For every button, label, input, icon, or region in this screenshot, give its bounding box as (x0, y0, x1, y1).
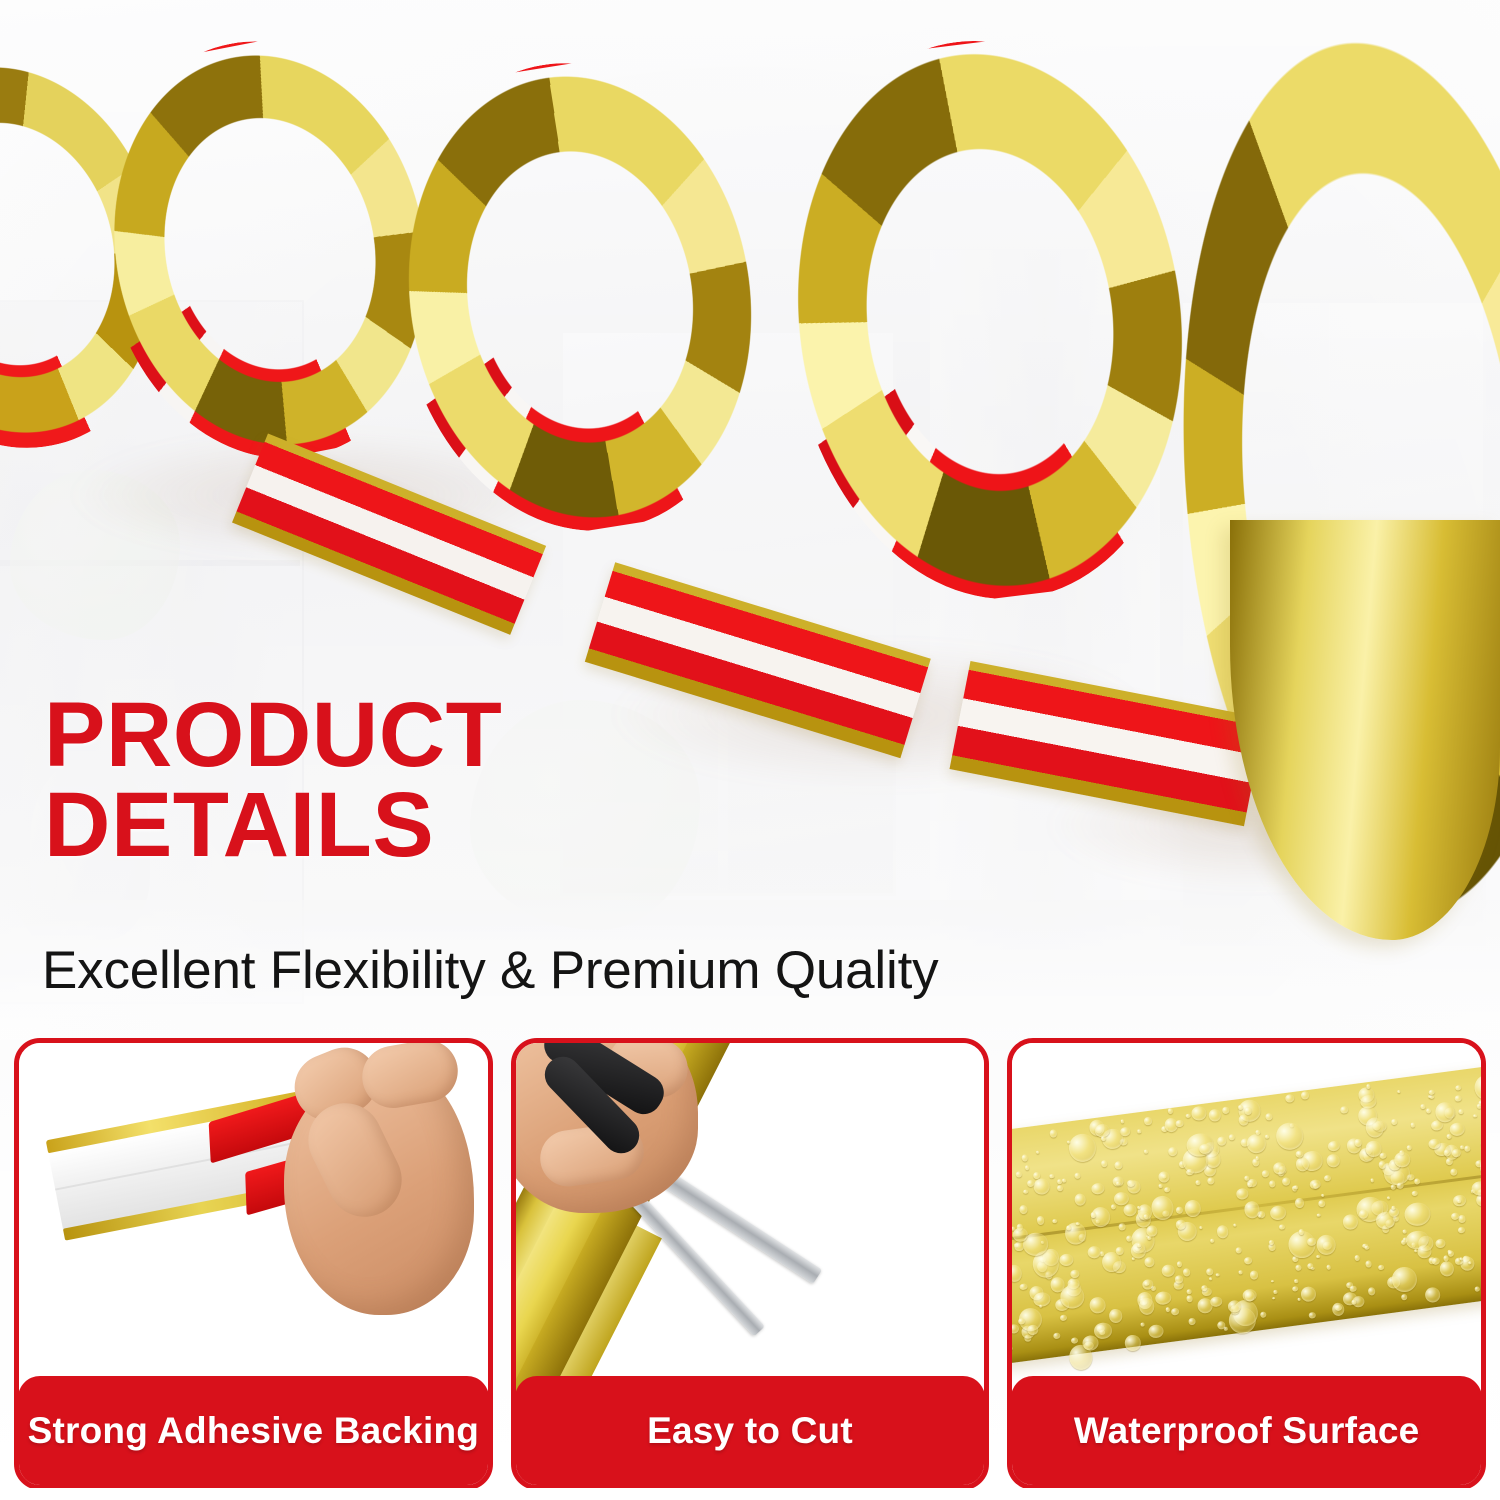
water-droplet (1033, 1178, 1051, 1195)
water-droplet (1012, 1264, 1023, 1282)
water-droplet (1252, 1158, 1260, 1167)
feature-panel-easy-to-cut[interactable]: Easy to Cut (511, 1038, 990, 1490)
water-droplet (1176, 1119, 1185, 1127)
water-droplet (1183, 1268, 1191, 1276)
water-droplet (1250, 1270, 1260, 1280)
headline-line-1: PRODUCT (44, 684, 502, 786)
water-droplet (1144, 1117, 1152, 1125)
water-droplet (1321, 1193, 1325, 1197)
panel-caption-bar: Strong Adhesive Backing (18, 1376, 489, 1486)
water-droplet (1050, 1174, 1055, 1179)
water-droplet (1273, 1290, 1278, 1294)
water-droplet (1141, 1322, 1145, 1327)
water-droplet (1455, 1095, 1462, 1102)
water-droplet (1091, 1183, 1106, 1196)
water-droplet (1215, 1273, 1219, 1277)
page-subtitle: Excellent Flexibility & Premium Quality (42, 940, 1222, 1001)
water-droplet (1366, 1260, 1373, 1267)
water-droplet (1012, 1346, 1013, 1352)
water-droplet (1458, 1227, 1466, 1234)
water-droplet (1326, 1265, 1331, 1270)
feature-panels: Strong Adhesive Backing (0, 1038, 1500, 1490)
water-droplet (1217, 1225, 1230, 1239)
water-droplet (1476, 1193, 1481, 1207)
water-droplet (1275, 1121, 1305, 1151)
water-droplet (1429, 1089, 1436, 1095)
water-droplet (1404, 1201, 1432, 1227)
water-droplet (1234, 1224, 1238, 1227)
water-droplet (1458, 1215, 1466, 1223)
water-droplet (1272, 1297, 1275, 1300)
water-droplet (1245, 1291, 1256, 1302)
water-droplet (1266, 1135, 1271, 1139)
water-droplet (1294, 1186, 1298, 1190)
water-droplet (1062, 1179, 1067, 1183)
water-droplet (1111, 1204, 1117, 1210)
water-droplet (1023, 1189, 1029, 1194)
water-droplet (1271, 1280, 1274, 1283)
water-droplet (1458, 1108, 1464, 1114)
water-droplet (1101, 1160, 1108, 1167)
water-droplet (1168, 1147, 1178, 1157)
water-droplet (1144, 1257, 1155, 1268)
water-droplet (1166, 1307, 1171, 1312)
water-droplet (1050, 1129, 1058, 1137)
water-droplet (1159, 1184, 1163, 1188)
water-droplet (1054, 1332, 1062, 1339)
water-droplet (1390, 1265, 1418, 1293)
water-droplet (1296, 1265, 1303, 1272)
water-droplet (1191, 1105, 1208, 1121)
water-droplet (1075, 1172, 1082, 1179)
water-droplet (1292, 1286, 1299, 1292)
water-droplet (1435, 1239, 1446, 1249)
water-droplet (1185, 1199, 1203, 1218)
water-droplet (1060, 1284, 1086, 1310)
water-droplet (1355, 1255, 1361, 1261)
tape-coil (365, 37, 794, 558)
water-droplet (1071, 1270, 1080, 1279)
water-droplet (1195, 1180, 1201, 1186)
panel-image-adhesive-peel (19, 1043, 488, 1393)
water-droplet (1053, 1218, 1059, 1223)
water-droplet (1294, 1197, 1305, 1208)
water-droplet (1108, 1308, 1123, 1324)
water-droplet (1350, 1285, 1357, 1292)
water-droplet (1089, 1296, 1107, 1315)
water-droplet (1124, 1334, 1142, 1352)
feature-panel-strong-adhesive-backing[interactable]: Strong Adhesive Backing (14, 1038, 493, 1490)
water-droplet (1286, 1094, 1295, 1103)
water-droplet (1316, 1233, 1338, 1255)
water-droplet (1206, 1268, 1214, 1276)
water-droplet (1471, 1180, 1481, 1196)
water-droplet (1067, 1132, 1098, 1164)
water-droplet (1176, 1206, 1184, 1214)
water-droplet (1343, 1213, 1359, 1230)
water-droplet (1313, 1182, 1319, 1188)
water-droplet (1475, 1287, 1480, 1292)
water-droplet (1397, 1090, 1401, 1093)
water-droplet (1235, 1247, 1242, 1254)
water-droplet (1270, 1205, 1287, 1221)
water-droplet (1266, 1113, 1273, 1121)
water-droplet (1168, 1108, 1174, 1114)
water-droplet (1246, 1133, 1268, 1154)
water-droplet (1210, 1238, 1215, 1243)
water-droplet (1025, 1165, 1030, 1170)
water-droplet (1199, 1226, 1203, 1229)
water-droplet (1057, 1184, 1063, 1191)
feature-panel-waterproof-surface[interactable]: Waterproof Surface (1007, 1038, 1486, 1490)
bottom-margin (0, 1488, 1500, 1500)
water-droplet (1186, 1295, 1194, 1303)
water-droplet (1450, 1168, 1458, 1177)
water-droplet (1217, 1136, 1227, 1146)
water-droplet (1150, 1195, 1175, 1222)
water-droplet (1260, 1311, 1267, 1318)
water-droplet (1161, 1263, 1176, 1277)
water-droplet (1327, 1140, 1341, 1152)
water-droplet (1456, 1085, 1463, 1091)
water-droplet (1365, 1116, 1386, 1138)
panel-image-scissors-cut (516, 1043, 985, 1393)
water-droplet (1186, 1114, 1191, 1119)
panel-caption-label: Waterproof Surface (1074, 1410, 1420, 1452)
water-droplet (1155, 1291, 1173, 1306)
water-droplet (1379, 1152, 1387, 1159)
water-droplet (1477, 1104, 1481, 1109)
water-droplet (1012, 1324, 1020, 1334)
gold-strip-wet (1012, 1061, 1481, 1364)
water-droplet (1316, 1255, 1320, 1259)
water-droplet (1222, 1107, 1230, 1114)
water-droplet (1396, 1182, 1404, 1189)
water-droplet (1087, 1245, 1102, 1259)
water-droplet (1392, 1118, 1399, 1125)
water-droplet (1318, 1199, 1326, 1208)
water-droplet (1158, 1171, 1170, 1183)
panel-caption-label: Easy to Cut (647, 1410, 853, 1452)
water-droplet (1394, 1151, 1411, 1168)
panel-image-water-droplets (1012, 1043, 1481, 1393)
water-droplet (1473, 1114, 1477, 1118)
water-droplet (1326, 1154, 1341, 1168)
water-droplet (1427, 1108, 1433, 1114)
water-droplet (1012, 1239, 1013, 1262)
water-droplet (1317, 1213, 1321, 1217)
water-droplet (1059, 1253, 1075, 1267)
water-droplet (1060, 1315, 1068, 1322)
water-droplet (1144, 1150, 1148, 1154)
headline-line-2: DETAILS (44, 780, 864, 870)
water-droplet (1370, 1178, 1374, 1182)
water-droplet (1148, 1324, 1164, 1339)
water-droplet (1138, 1297, 1156, 1316)
water-droplet (1037, 1216, 1046, 1225)
water-droplet (1439, 1261, 1455, 1278)
water-droplet (1208, 1177, 1216, 1184)
water-droplet (1324, 1175, 1332, 1182)
panel-caption-bar: Easy to Cut (515, 1376, 986, 1486)
water-droplet (1421, 1104, 1426, 1109)
water-droplet (1452, 1149, 1462, 1158)
water-droplet (1282, 1177, 1290, 1186)
water-droplet (1209, 1277, 1213, 1281)
water-droplet (1037, 1151, 1040, 1154)
water-droplet (1186, 1168, 1194, 1175)
water-droplet (1171, 1307, 1179, 1315)
water-droplet (1138, 1130, 1142, 1133)
water-droplet (1402, 1294, 1408, 1301)
water-droplet (1378, 1264, 1385, 1270)
water-droplet (1022, 1154, 1029, 1162)
water-droplet (1366, 1084, 1371, 1089)
water-droplet (1262, 1170, 1270, 1177)
water-droplet (1119, 1223, 1126, 1230)
water-droplet (1115, 1161, 1124, 1170)
water-droplet (1027, 1324, 1039, 1335)
water-droplet (1432, 1257, 1441, 1265)
water-droplet (1340, 1106, 1348, 1115)
water-droplet (1407, 1145, 1413, 1151)
product-details-infographic: PRODUCT DETAILS Excellent Flexibility & … (0, 0, 1500, 1500)
water-droplet (1269, 1180, 1276, 1187)
water-droplet (1177, 1261, 1183, 1267)
water-droplet (1447, 1134, 1452, 1140)
water-droplet (1121, 1120, 1125, 1124)
water-droplet (1448, 1250, 1455, 1257)
water-droplets (1012, 1061, 1481, 1364)
water-droplet (1239, 1270, 1243, 1274)
panel-caption-label: Strong Adhesive Backing (28, 1410, 479, 1452)
water-droplet (1093, 1321, 1112, 1339)
water-droplet (1208, 1108, 1221, 1122)
water-droplet (1412, 1191, 1418, 1197)
water-droplet (1425, 1286, 1442, 1303)
water-droplet (1279, 1224, 1285, 1230)
water-droplet (1301, 1091, 1309, 1100)
water-droplet (1354, 1139, 1363, 1147)
water-droplet (1309, 1311, 1317, 1319)
water-droplet (1164, 1187, 1171, 1193)
water-droplet (1414, 1178, 1421, 1185)
water-droplet (1300, 1285, 1318, 1303)
water-droplet (1074, 1193, 1086, 1206)
water-droplet (1236, 1188, 1249, 1200)
water-droplet (1247, 1182, 1252, 1188)
water-droplet (1186, 1289, 1191, 1294)
water-droplet (1474, 1073, 1481, 1102)
panel-caption-bar: Waterproof Surface (1011, 1376, 1482, 1486)
water-droplet (1365, 1246, 1370, 1250)
water-droplet (1016, 1171, 1022, 1177)
water-droplet (1368, 1287, 1376, 1295)
water-droplet (1449, 1122, 1466, 1137)
water-droplet (1020, 1283, 1028, 1290)
water-droplet (1244, 1257, 1253, 1265)
page-title: PRODUCT DETAILS (44, 690, 864, 870)
water-droplet (1411, 1123, 1416, 1128)
water-droplet (1403, 1229, 1408, 1234)
water-droplet (1189, 1318, 1197, 1326)
water-droplet (1464, 1146, 1471, 1153)
water-droplet (1430, 1095, 1435, 1100)
water-droplet (1387, 1196, 1391, 1199)
water-droplet (1479, 1153, 1481, 1181)
water-droplet (1019, 1204, 1028, 1214)
water-droplet (1071, 1337, 1079, 1344)
water-droplet (1295, 1279, 1300, 1283)
water-droplet (1228, 1134, 1235, 1141)
